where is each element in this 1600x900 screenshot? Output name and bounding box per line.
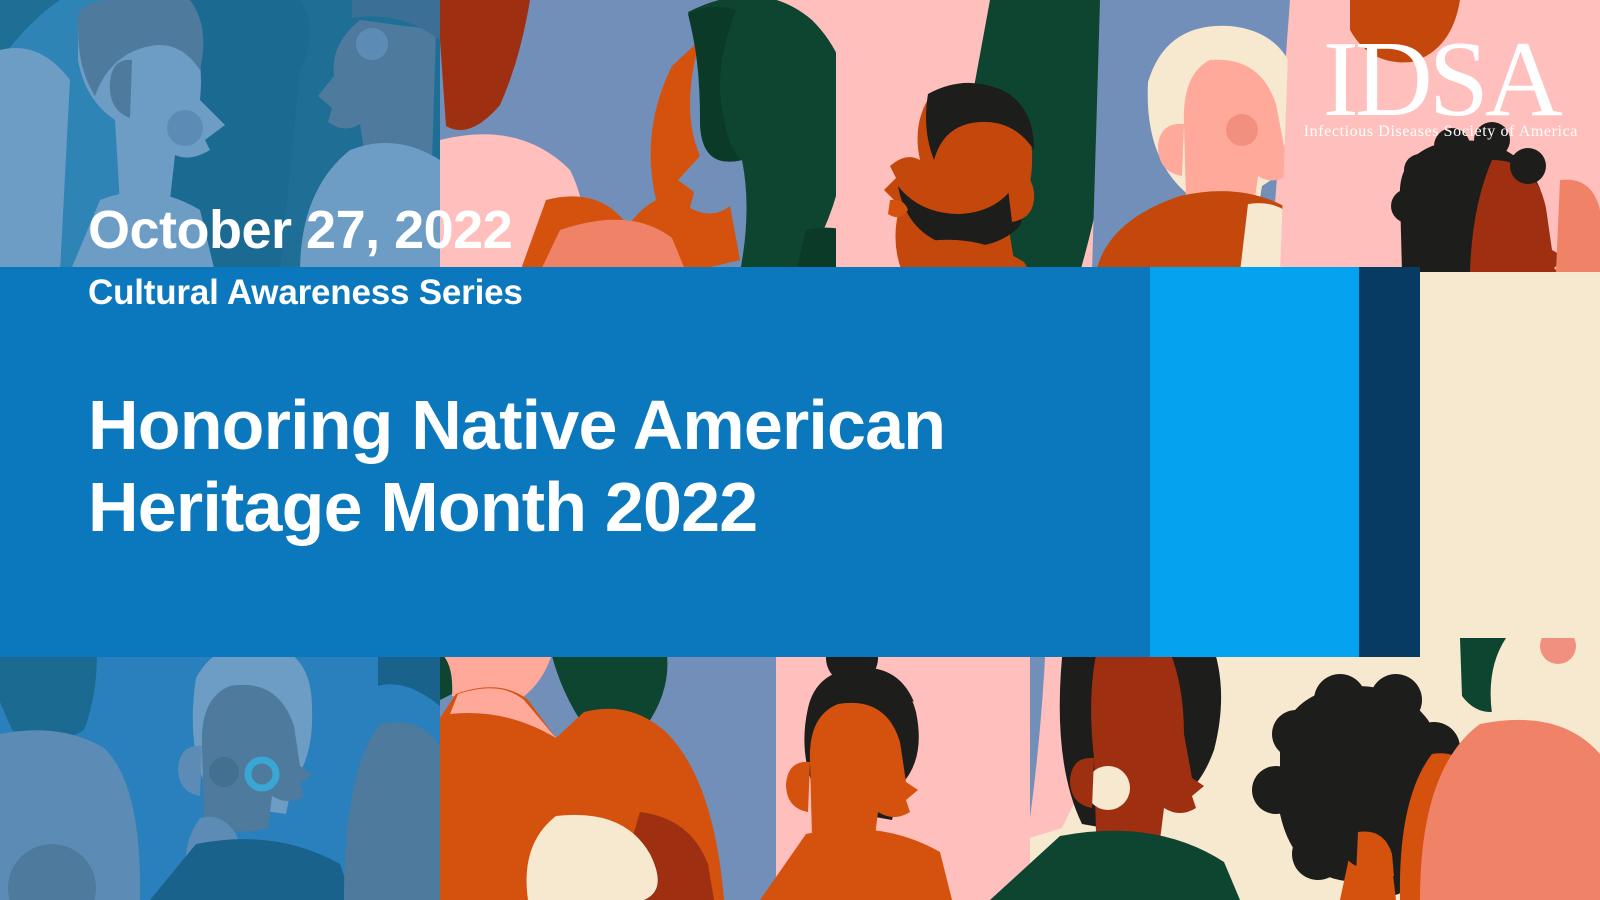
page-title-line-1: Honoring Native American — [88, 385, 1118, 467]
page-title: Honoring Native American Heritage Month … — [88, 385, 1118, 549]
series-label: Cultural Awareness Series — [88, 275, 523, 310]
figure-orange-shirt — [440, 638, 776, 900]
banner-accent-navy-block — [1359, 267, 1420, 657]
page-title-line-2: Heritage Month 2022 — [88, 467, 1118, 549]
figure-green-shirt-woman — [990, 638, 1600, 900]
bottom-figures-group — [0, 638, 1600, 900]
figure-bun-woman — [760, 638, 1032, 900]
slide-canvas: October 27, 2022 Cultural Awareness Seri… — [0, 0, 1600, 900]
art-shape-rust-wedge — [440, 0, 530, 130]
banner-accent-cyan-block — [1150, 267, 1359, 657]
event-date: October 27, 2022 — [88, 203, 512, 257]
mono-blue-figures-bottom — [0, 638, 440, 900]
